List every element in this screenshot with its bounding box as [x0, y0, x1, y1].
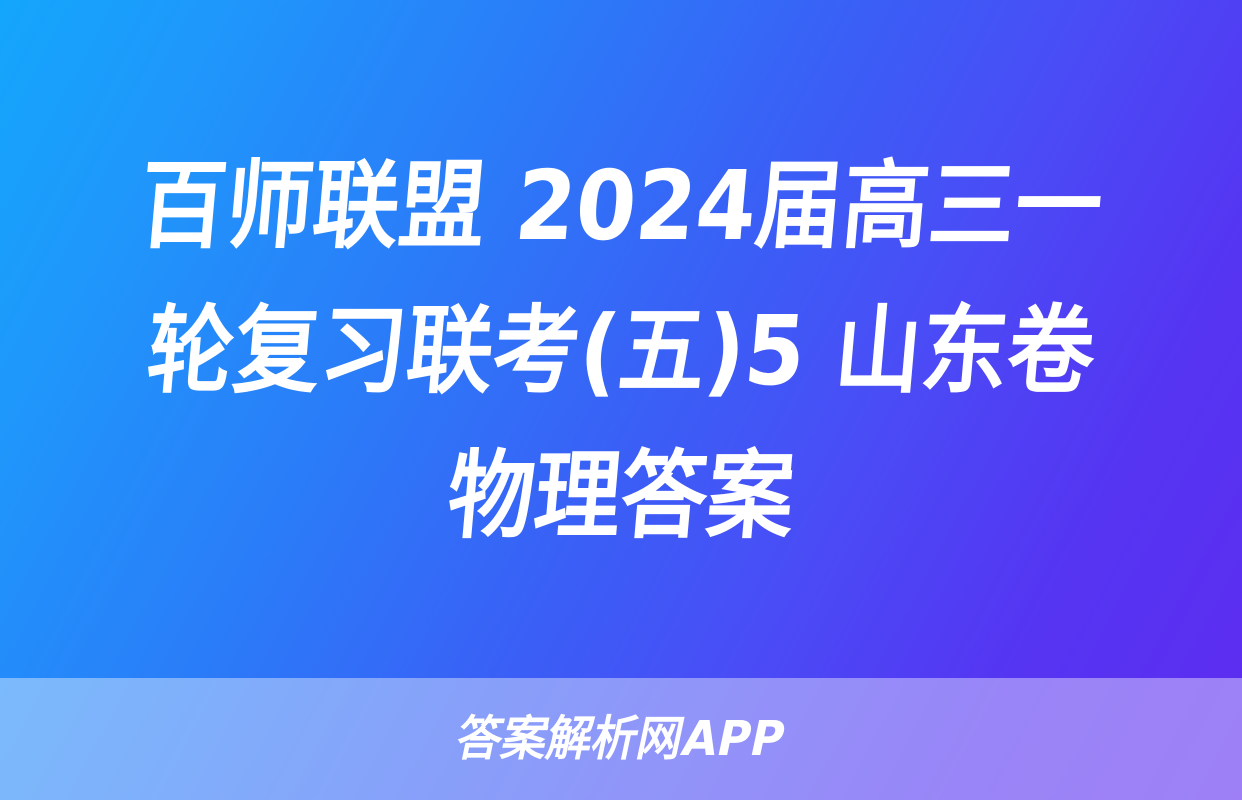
- answer-cover-poster: 百师联盟 2024届高三一 轮复习联考(五)5 山东卷 物理答案 答案解析网AP…: [0, 0, 1242, 800]
- headline-block: 百师联盟 2024届高三一 轮复习联考(五)5 山东卷 物理答案: [0, 0, 1242, 678]
- app-promo-label: 答案解析网APP: [452, 711, 791, 767]
- headline-line-1: 百师联盟 2024届高三一: [120, 134, 1123, 279]
- headline-line-3: 物理答案: [120, 424, 1123, 569]
- app-promo-banner[interactable]: 答案解析网APP: [0, 678, 1242, 800]
- headline-line-2: 轮复习联考(五)5 山东卷: [120, 279, 1123, 424]
